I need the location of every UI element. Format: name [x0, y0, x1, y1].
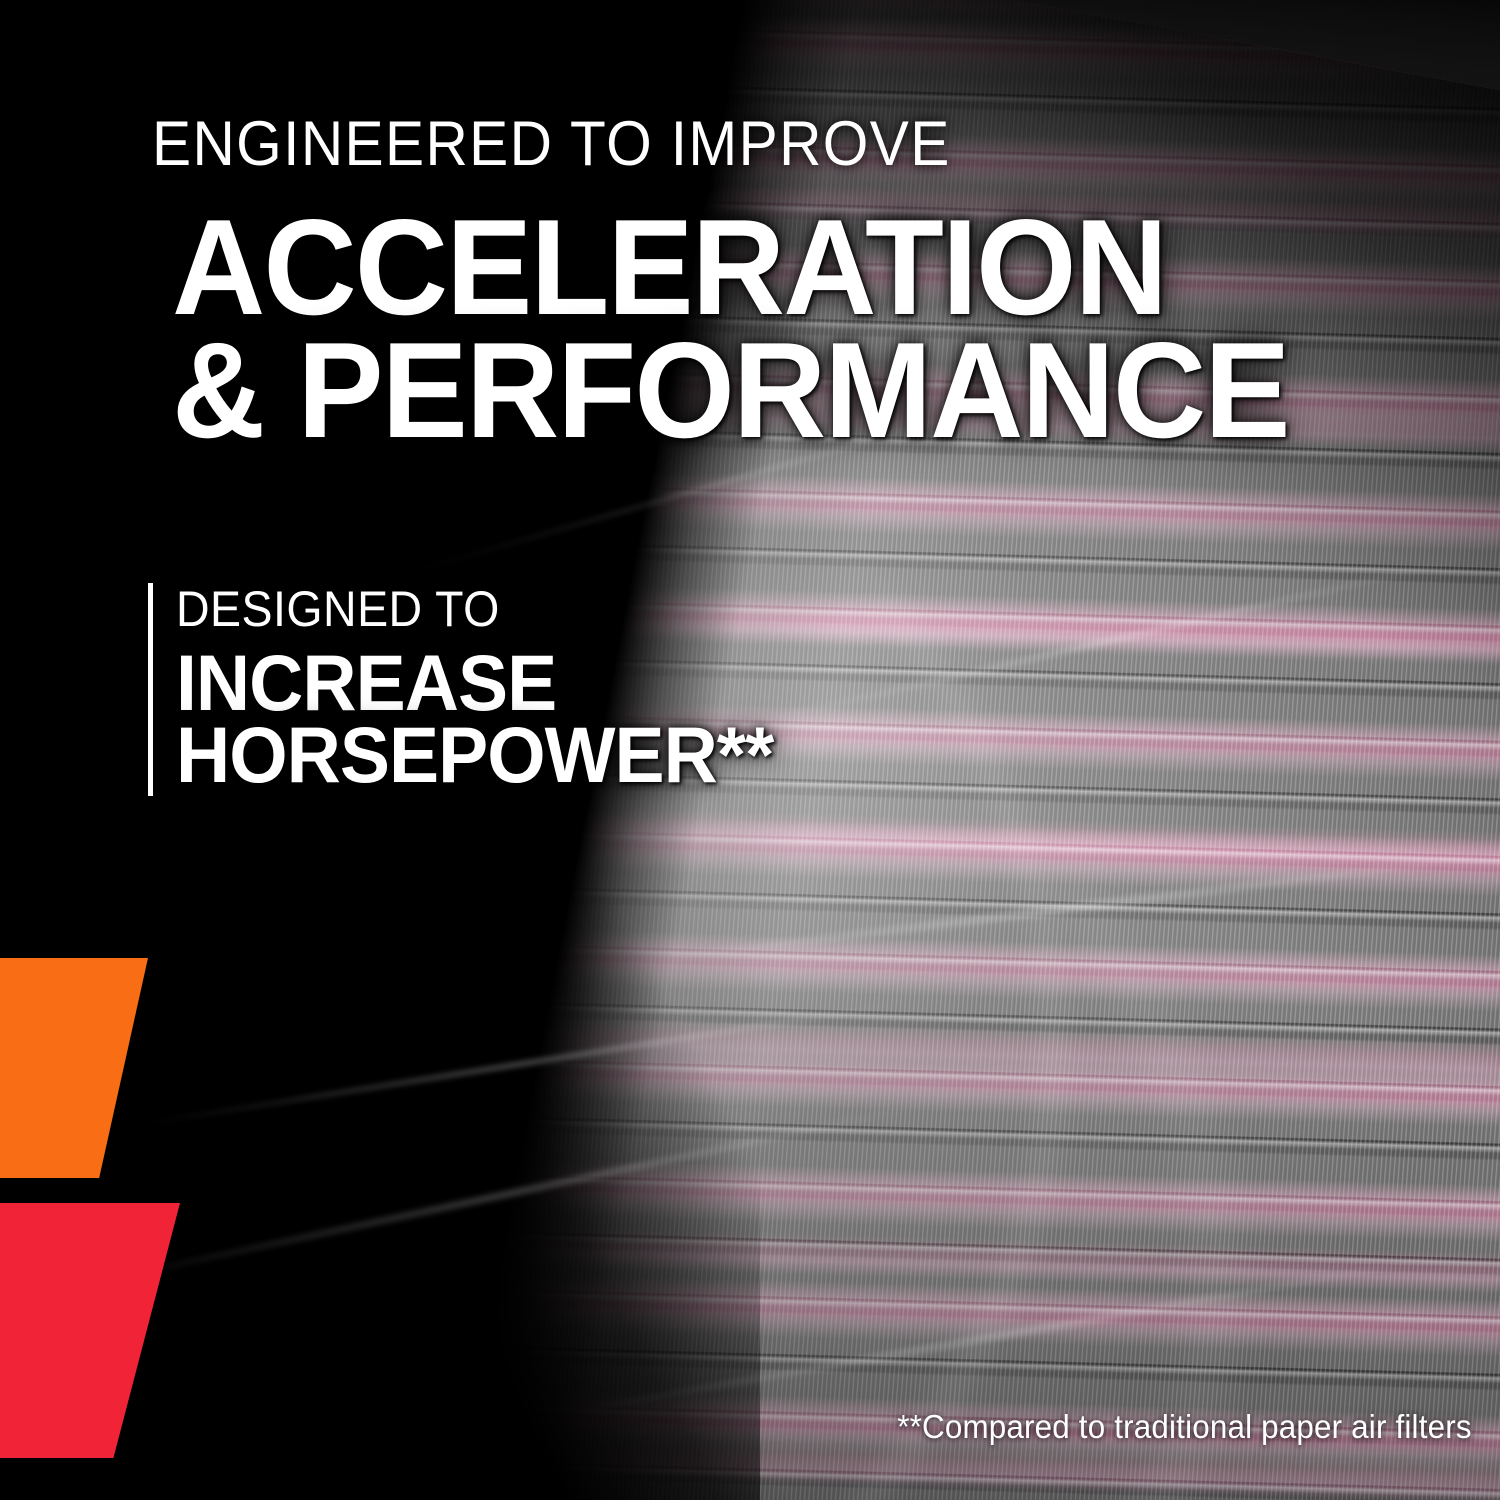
headline-line-1: ACCELERATION — [172, 203, 1166, 332]
headline-line-2: & PERFORMANCE — [172, 326, 1289, 455]
subhead-eyebrow: DESIGNED TO — [176, 584, 500, 634]
footnote-disclaimer: **Compared to traditional paper air filt… — [898, 1410, 1472, 1443]
headline-eyebrow: ENGINEERED TO IMPROVE — [152, 113, 951, 176]
copy-block: ENGINEERED TO IMPROVE ACCELERATION & PER… — [0, 0, 1500, 1500]
subhead-line-1: INCREASE — [176, 645, 556, 720]
promo-canvas: ENGINEERED TO IMPROVE ACCELERATION & PER… — [0, 0, 1500, 1500]
subhead-vertical-rule — [148, 583, 153, 796]
subhead-line-2: HORSEPOWER** — [176, 717, 773, 792]
